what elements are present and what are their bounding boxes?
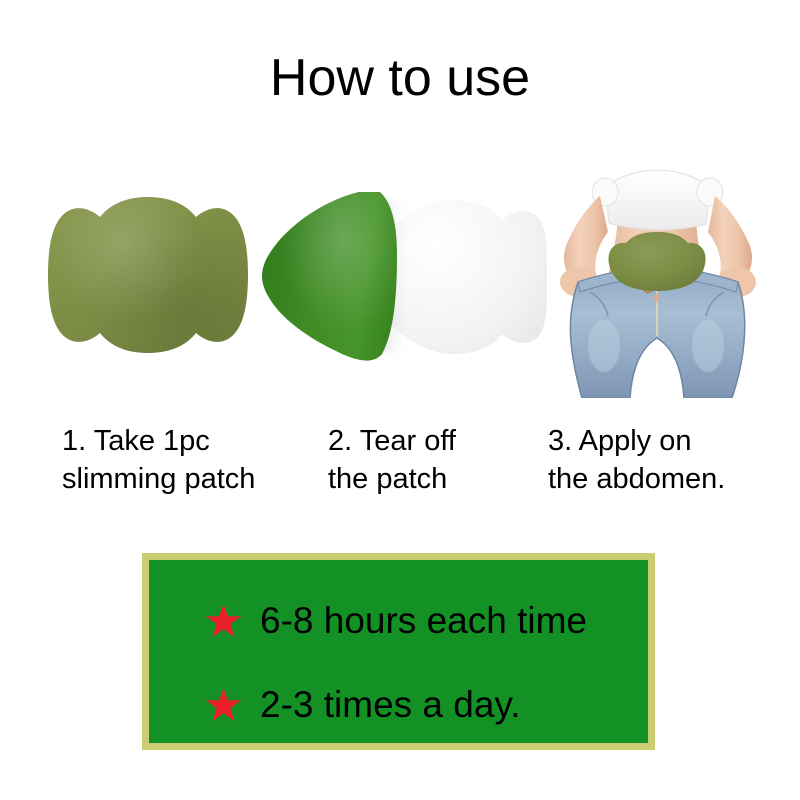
step-3-artwork — [548, 170, 778, 400]
olive-patch-shape — [48, 195, 248, 355]
step-3-caption: 3. Apply on the abdomen. — [548, 422, 725, 499]
step-1-artwork — [30, 170, 280, 400]
denim-fade-left — [588, 320, 620, 372]
step-2: 2. Tear off the patch — [262, 170, 552, 510]
step-2-artwork — [262, 170, 552, 400]
banner-line-2: 2-3 times a day. — [205, 686, 520, 723]
banner-line-2-text: 2-3 times a day. — [260, 686, 520, 723]
red-star-icon — [205, 687, 242, 723]
red-star-icon — [205, 603, 242, 639]
step-1: 1. Take 1pc slimming patch — [30, 170, 280, 510]
abdomen-photo-illustration — [556, 170, 771, 398]
denim-fade-right — [692, 320, 724, 372]
navel — [654, 294, 660, 303]
steps-row: 1. Take 1pc slimming patch 2. Tear off t… — [0, 170, 800, 510]
white-crop-top — [608, 170, 708, 230]
banner-line-1: 6-8 hours each time — [205, 602, 587, 639]
step-1-caption: 1. Take 1pc slimming patch — [62, 422, 255, 499]
step-3: 3. Apply on the abdomen. — [548, 170, 778, 510]
page-title: How to use — [0, 52, 800, 104]
olive-slimming-patch-icon — [48, 195, 248, 355]
usage-frequency-banner: 6-8 hours each time 2-3 times a day. — [142, 553, 655, 750]
green-patch-shape — [262, 192, 397, 362]
step-2-caption: 2. Tear off the patch — [328, 422, 456, 499]
banner-line-1-text: 6-8 hours each time — [260, 602, 587, 639]
patch-peeling-icon — [262, 192, 547, 362]
